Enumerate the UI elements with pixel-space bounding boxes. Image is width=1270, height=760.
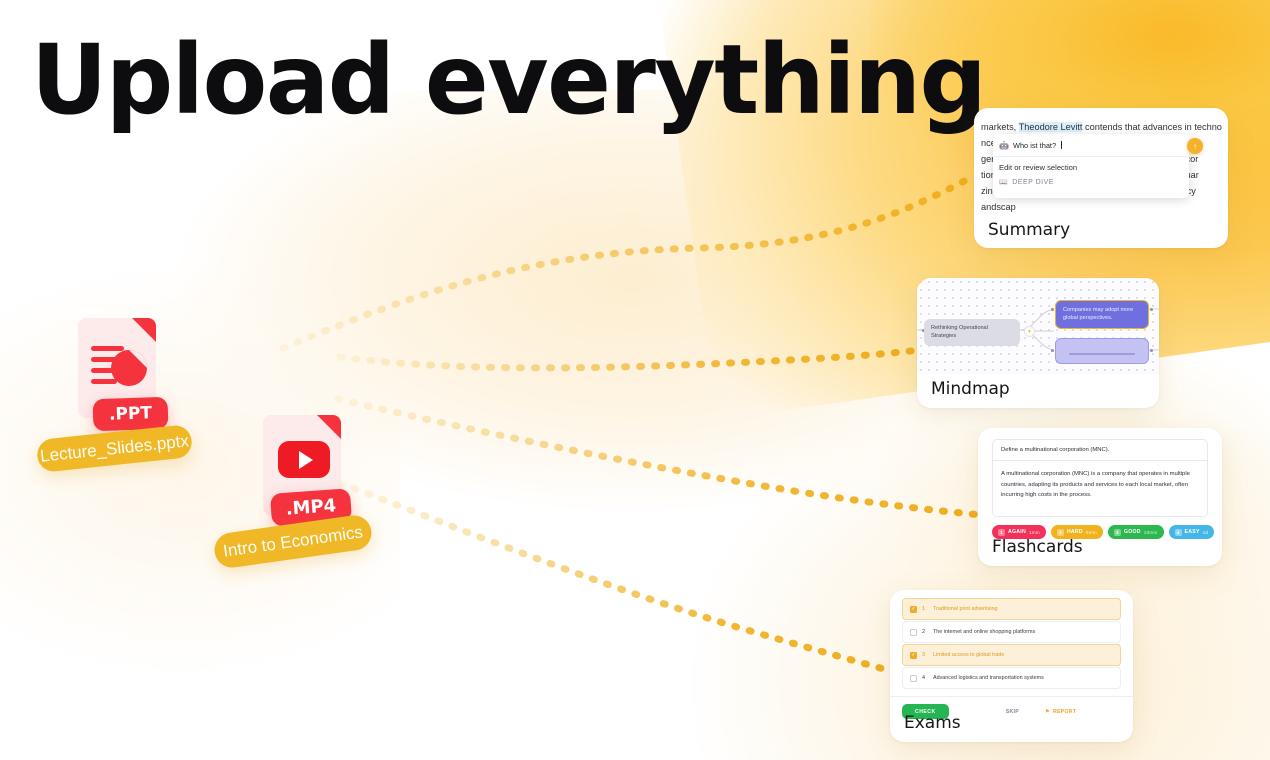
pie-chart-icon [111, 350, 147, 386]
connector-mp4-to-flashcards [338, 399, 982, 515]
mindmap-node-child-1[interactable]: Companies may adopt more global perspect… [1055, 300, 1149, 329]
flag-icon: ⚑ [1045, 709, 1050, 715]
flashcards-card[interactable]: Define a multinational corporation (MNC)… [978, 428, 1222, 566]
checkbox-icon[interactable] [910, 629, 917, 636]
rating-button-good[interactable]: 3 GOOD 10min [1108, 525, 1164, 539]
rating-label: HARD [1067, 529, 1083, 535]
mindmap-port-child1-left [1051, 308, 1054, 311]
option-number: 3 [922, 652, 928, 658]
connector-ppt-to-mindmap [340, 350, 918, 368]
arrow-up-icon[interactable]: ↑ [1187, 138, 1203, 154]
mindmap-port-child2-left [1051, 349, 1054, 352]
option-text: The internet and online shopping platfor… [933, 629, 1035, 635]
skip-button[interactable]: SKIP [1006, 709, 1019, 715]
exam-option-4[interactable]: 4 Advanced logistics and transportation … [902, 667, 1121, 689]
ai-prompt-input[interactable]: Who ist that? [1013, 141, 1056, 150]
summary-card[interactable]: markets, Theodore Levitt contends that a… [974, 108, 1228, 248]
flashcard-answer: A multinational corporation (MNC) is a c… [993, 461, 1207, 509]
exam-option-2[interactable]: 2 The internet and online shopping platf… [902, 621, 1121, 643]
deep-dive-label: DEEP DIVE [1012, 179, 1054, 186]
rating-interval: 1min [1029, 530, 1040, 535]
upload-item-mp4[interactable]: .MP4 [263, 415, 341, 515]
option-text: Limited access to global trade [933, 652, 1004, 658]
option-number: 1 [922, 606, 928, 612]
book-icon: 📖 [999, 178, 1008, 186]
page-fold-icon [317, 415, 341, 439]
exam-option-1[interactable]: ✓ 1 Traditional print advertising [902, 598, 1121, 620]
option-number: 4 [922, 675, 928, 681]
robot-icon: 🤖 [999, 141, 1009, 150]
option-text: Advanced logistics and transportation sy… [933, 675, 1044, 681]
rating-interval: 4d [1203, 530, 1209, 535]
rating-interval: 10min [1144, 530, 1158, 535]
exams-card[interactable]: ✓ 1 Traditional print advertising 2 The … [890, 590, 1133, 742]
report-button[interactable]: ⚑ REPORT [1045, 709, 1076, 715]
rating-button-easy[interactable]: 4 EASY 4d [1169, 525, 1215, 539]
rating-label: AGAIN [1008, 529, 1026, 535]
play-button-icon [278, 441, 330, 478]
page-title: Upload everything [31, 21, 985, 139]
mindmap-node-child-2[interactable] [1055, 338, 1149, 364]
rating-label: EASY [1185, 529, 1200, 535]
option-number: 2 [922, 629, 928, 635]
summary-card-label: Summary [988, 220, 1070, 240]
ai-prompt-row[interactable]: 🤖 Who ist that? ↑ [993, 134, 1189, 157]
rating-interval: 6min [1086, 530, 1097, 535]
exam-options-list: ✓ 1 Traditional print advertising 2 The … [902, 598, 1121, 690]
mindmap-node-root[interactable]: Rethinking Operational Strategies [924, 319, 1020, 346]
report-label: REPORT [1053, 709, 1076, 715]
mindmap-port-child1-right [1150, 308, 1153, 311]
upload-item-ppt[interactable]: .PPT [78, 318, 156, 418]
exam-option-3[interactable]: ✓ 3 Limited access to global trade [902, 644, 1121, 666]
flashcards-card-label: Flashcards [992, 537, 1083, 557]
exams-card-label: Exams [904, 713, 961, 733]
mindmap-canvas[interactable]: Rethinking Operational Strategies ▾ Comp… [917, 278, 1159, 374]
menu-item-deep-dive[interactable]: 📖 DEEP DIVE [993, 174, 1189, 190]
checkbox-icon[interactable] [910, 675, 917, 682]
mindmap-card-label: Mindmap [931, 379, 1010, 399]
mindmap-port-child2-right [1150, 349, 1153, 352]
option-text: Traditional print advertising [933, 606, 998, 612]
menu-item-edit-review[interactable]: Edit or review selection [993, 157, 1189, 174]
ppt-extension-badge: .PPT [92, 397, 168, 432]
selection-popup[interactable]: 🤖 Who ist that? ↑ Edit or review selecti… [993, 134, 1189, 198]
page-fold-icon [132, 318, 156, 342]
rating-label: GOOD [1124, 529, 1141, 535]
checkbox-checked-icon[interactable]: ✓ [910, 652, 917, 659]
connector-mp4-to-exams [340, 483, 898, 673]
flashcard-panel: Define a multinational corporation (MNC)… [992, 439, 1208, 517]
mindmap-card[interactable]: Rethinking Operational Strategies ▾ Comp… [917, 278, 1159, 408]
flashcard-question: Define a multinational corporation (MNC)… [993, 440, 1207, 461]
chevron-down-icon[interactable]: ▾ [1024, 326, 1035, 337]
connector-ppt-to-summary [283, 178, 970, 348]
checkbox-checked-icon[interactable]: ✓ [910, 606, 917, 613]
